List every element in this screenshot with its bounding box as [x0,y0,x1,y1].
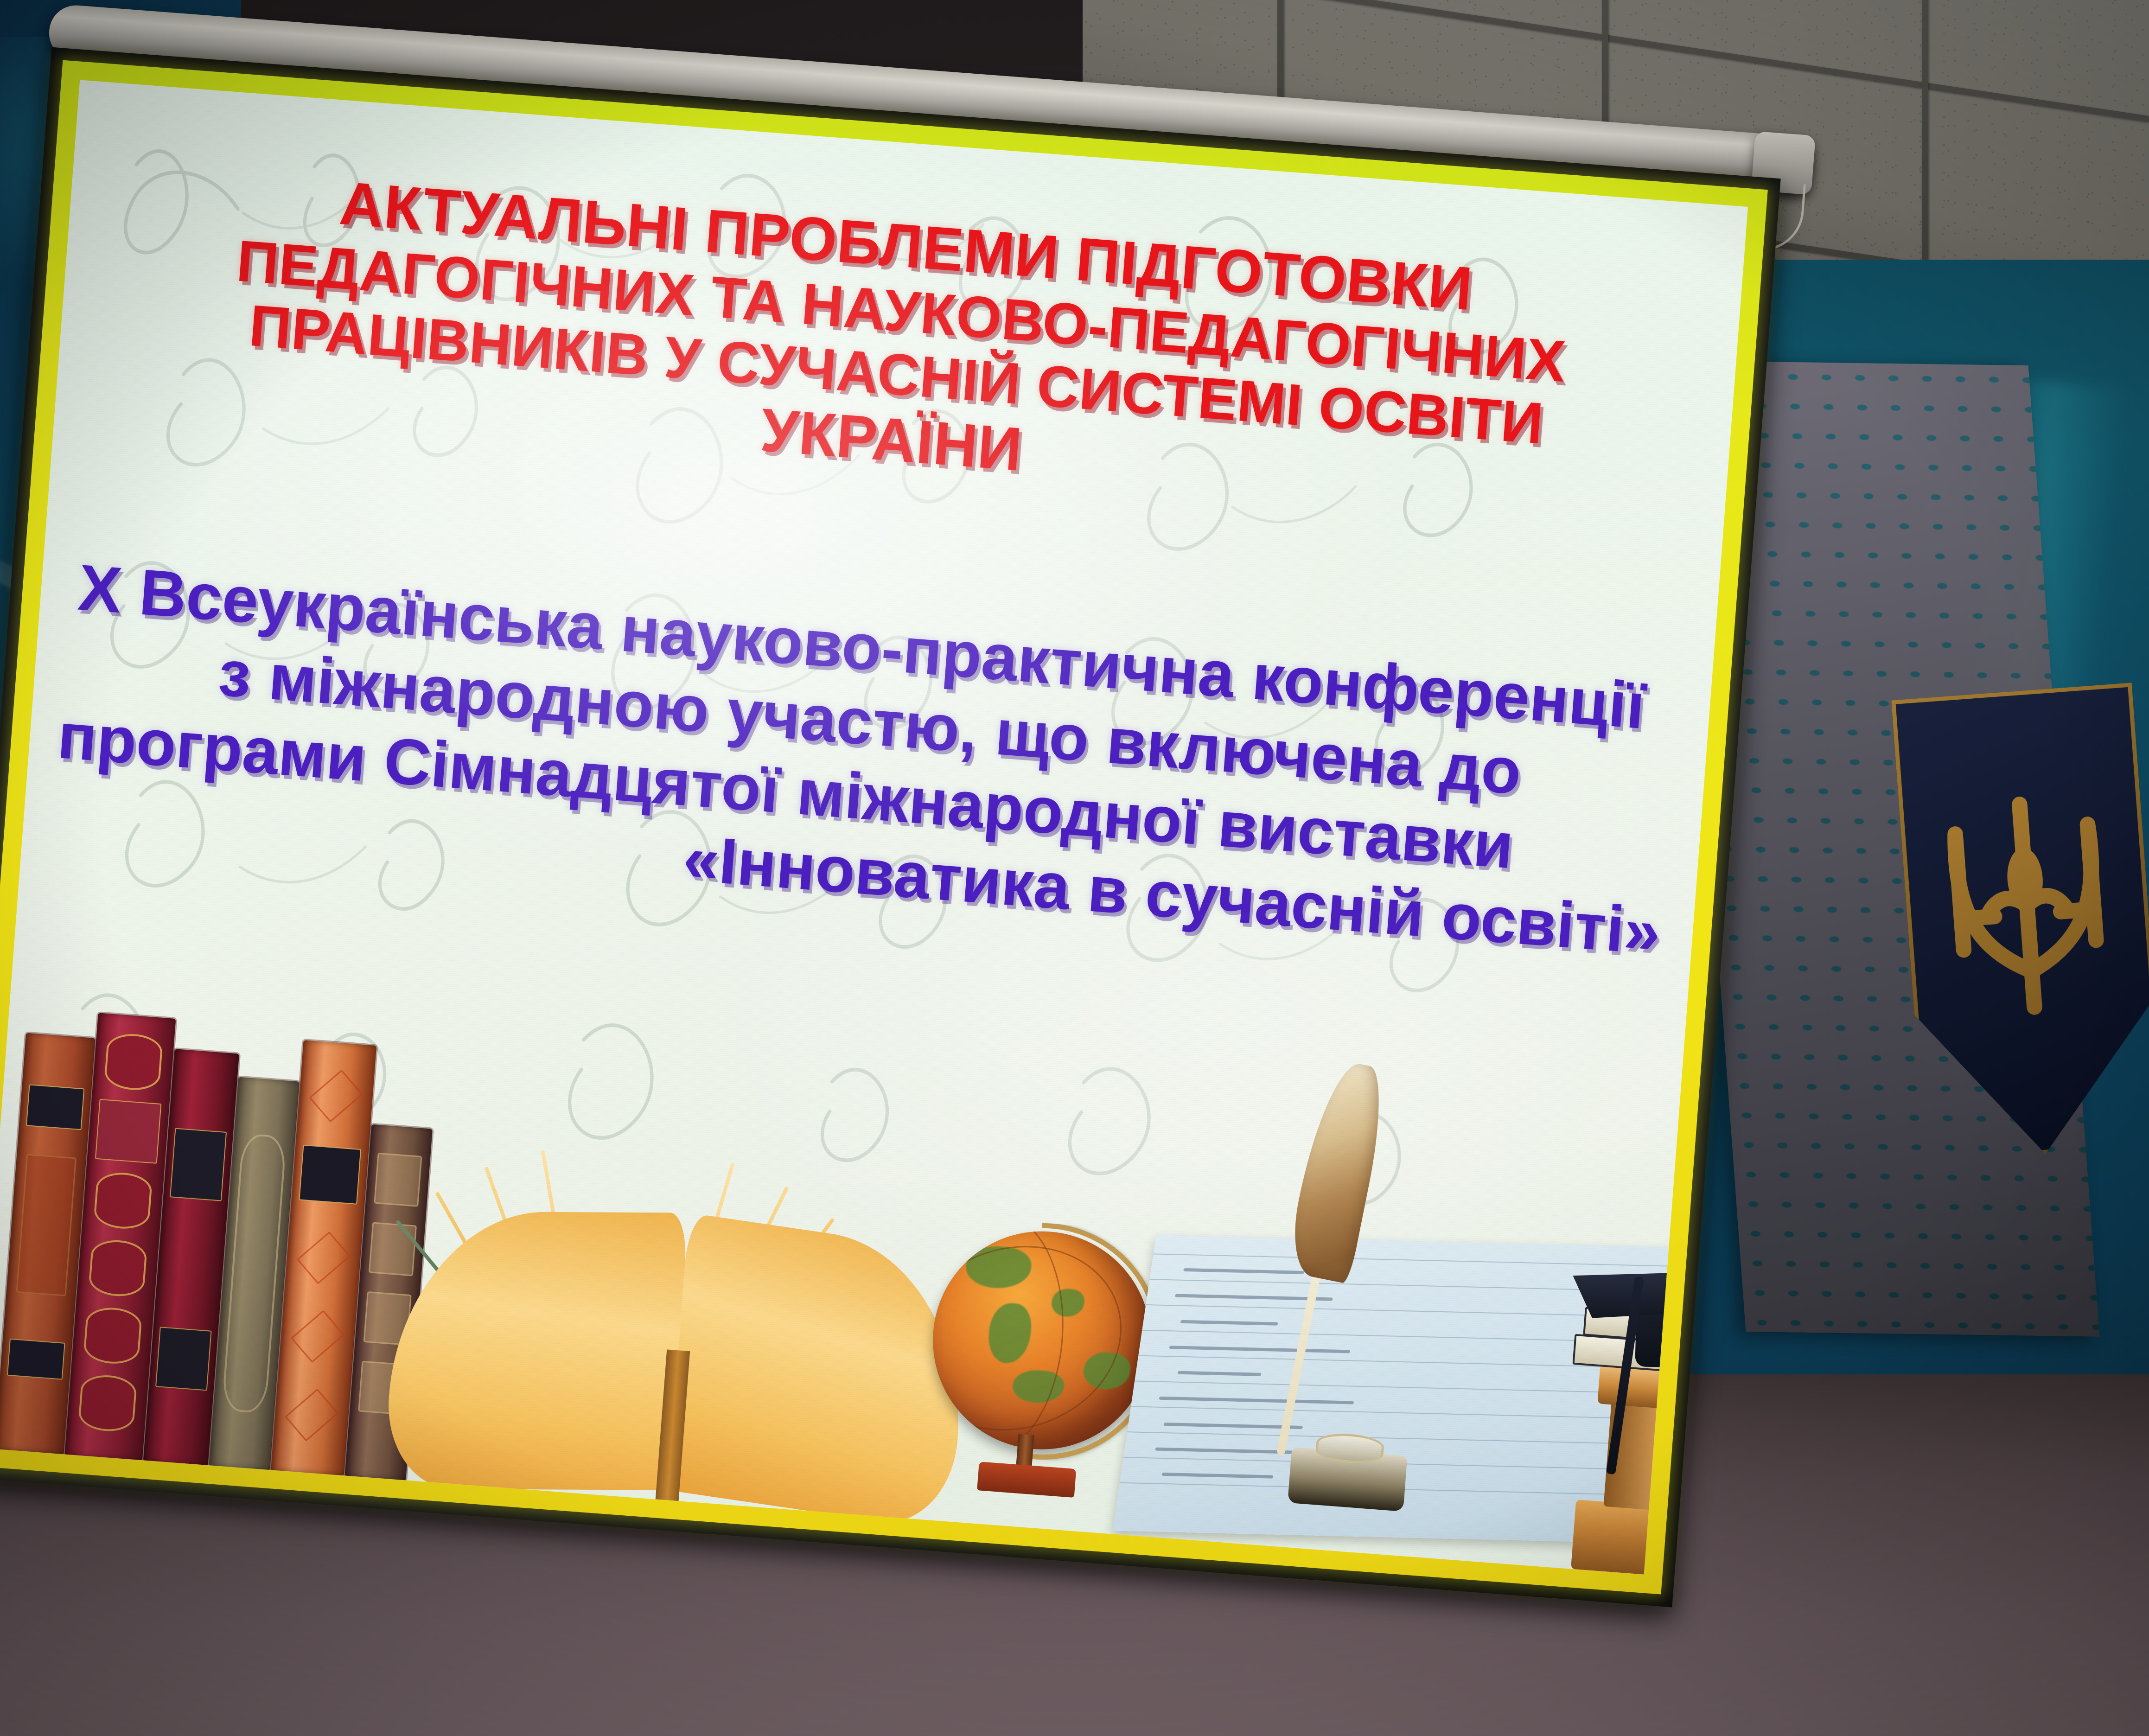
book-label [26,1084,84,1130]
book-ornament [285,1389,339,1442]
notebook-handwriting [1178,1371,1262,1376]
presentation-slide: АКТУАЛЬНІ ПРОБЛЕМИ ПІДГОТОВКИ ПЕДАГОГІЧН… [0,80,1748,1574]
book-ornament [291,1310,345,1363]
emblem-shading [1891,683,2149,1162]
glass-inkwell [1288,1406,1410,1512]
book-ornament [16,1154,77,1296]
ukrainian-trident-emblem [1891,683,2149,1162]
book-label [155,1327,212,1391]
book-ornament [83,1306,143,1366]
open-book [383,1201,972,1522]
screenshot-stage: АКТУАЛЬНІ ПРОБЛЕМИ ПІДГОТОВКИ ПЕДАГОГІЧН… [0,0,2149,1736]
book-label [299,1145,361,1205]
book-ornament [103,1032,164,1092]
book-ornament [297,1232,351,1284]
slide-yellow-border: АКТУАЛЬНІ ПРОБЛЕМИ ПІДГОТОВКИ ПЕДАГОГІЧН… [0,60,1768,1595]
book-ornament [309,1070,363,1123]
book-left-page [382,1211,689,1490]
book-label [95,1099,162,1164]
projection-screen-assembly: АКТУАЛЬНІ ПРОБЛЕМИ ПІДГОТОВКИ ПЕДАГОГІЧН… [0,0,1808,1719]
book-ornament [77,1373,138,1433]
book-ornament [88,1238,148,1298]
globe-base [977,1462,1076,1498]
book-ornament [374,1153,422,1207]
book-label [7,1339,65,1380]
notebook-handwriting [1180,1320,1278,1326]
book-ornament [93,1171,153,1231]
book-label [170,1128,227,1201]
book-ornament [222,1133,287,1414]
screen-black-frame: АКТУАЛЬНІ ПРОБЛЕМИ ПІДГОТОВКИ ПЕДАГОГІЧН… [0,47,1781,1608]
notebook-handwriting [1161,1473,1273,1479]
